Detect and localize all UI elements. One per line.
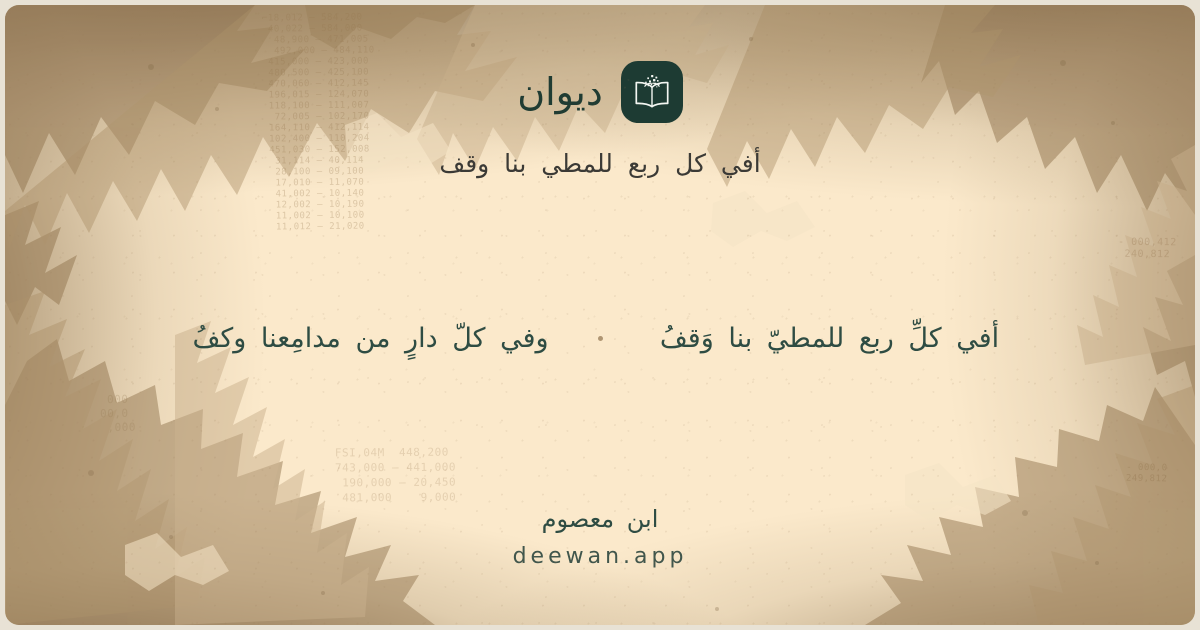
site-url: deewan.app — [5, 544, 1195, 569]
brand-lockup[interactable]: ديوان — [517, 61, 683, 123]
hemistich-second: وفي كلّ دارٍ من مدامِعنا وكفُ — [148, 323, 593, 354]
open-book-sparkle-icon — [621, 61, 683, 123]
card-footer: ابن معصوم deewan.app — [5, 505, 1195, 569]
card-content: ديوان أفي كل ربع للمطي بنا وقف أفي كلِّ … — [5, 5, 1195, 625]
poet-name: ابن معصوم — [5, 505, 1195, 534]
brand-name: ديوان — [517, 73, 603, 111]
poem-card-canvas: ⌐18,012 — 584,200 40,022 — 584,000 48,90… — [0, 0, 1200, 630]
paper-background: ⌐18,012 — 584,200 40,022 — 584,000 48,90… — [5, 5, 1195, 625]
hemistich-separator-dot — [593, 332, 607, 346]
page-title: أفي كل ربع للمطي بنا وقف — [439, 149, 760, 178]
verse-line: أفي كلِّ ربع للمطيّ بنا وَقفُ وفي كلّ دا… — [5, 323, 1195, 354]
hemistich-first: أفي كلِّ ربع للمطيّ بنا وَقفُ — [607, 323, 1052, 354]
